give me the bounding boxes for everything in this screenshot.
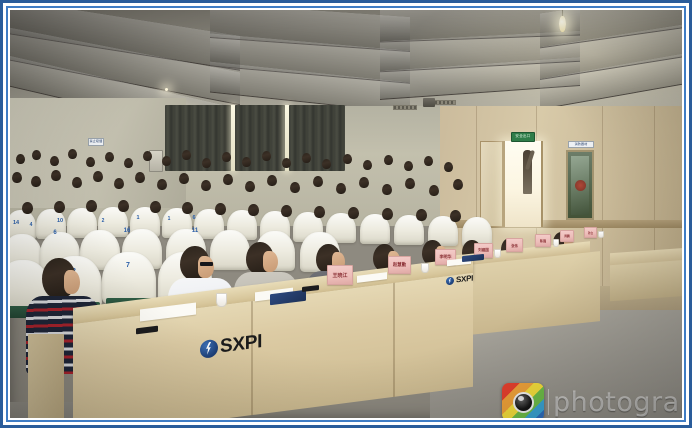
camera-lens-icon (513, 392, 534, 413)
photo-frame-inner-border: 禁止吸烟 (6, 6, 686, 422)
camera-icon (502, 383, 544, 418)
desk-panel-seam (251, 301, 253, 415)
watermark-photography-text: photography (553, 389, 682, 416)
ceiling-light (165, 88, 168, 91)
sxpi-wordmark: SXPI (220, 332, 262, 356)
photography-watermark: SXPI photography (502, 376, 682, 418)
seat-number: 11 (186, 228, 204, 234)
sxpi-mark-icon (446, 277, 454, 286)
fire-emblem-icon (575, 180, 586, 191)
fire-cabinet-sign: 消防器材 (568, 141, 594, 148)
desk-panel-seam (393, 283, 395, 397)
photograph: 禁止吸烟 (10, 10, 682, 418)
wall-vent (393, 105, 417, 110)
watermark-text-group: SXPI photography (553, 389, 682, 416)
wall-seam (602, 106, 603, 286)
seat-number: 7 (116, 262, 140, 269)
eyeglasses-icon (200, 262, 213, 266)
fire-equipment-cabinet (566, 150, 594, 220)
seat-number: 6 (186, 215, 202, 221)
exit-sign: 安全出口 (511, 132, 535, 142)
desk-left-pillar (28, 334, 64, 418)
watermark-divider (548, 389, 549, 415)
seat-number: 10 (52, 218, 68, 224)
seat-number: 1 (130, 215, 146, 221)
seat-number: 16 (118, 228, 136, 234)
pendant-light (559, 16, 566, 32)
photo-frame: 禁止吸烟 (0, 0, 692, 428)
ceiling-projector (423, 98, 435, 107)
sxpi-mark-icon (200, 338, 218, 358)
